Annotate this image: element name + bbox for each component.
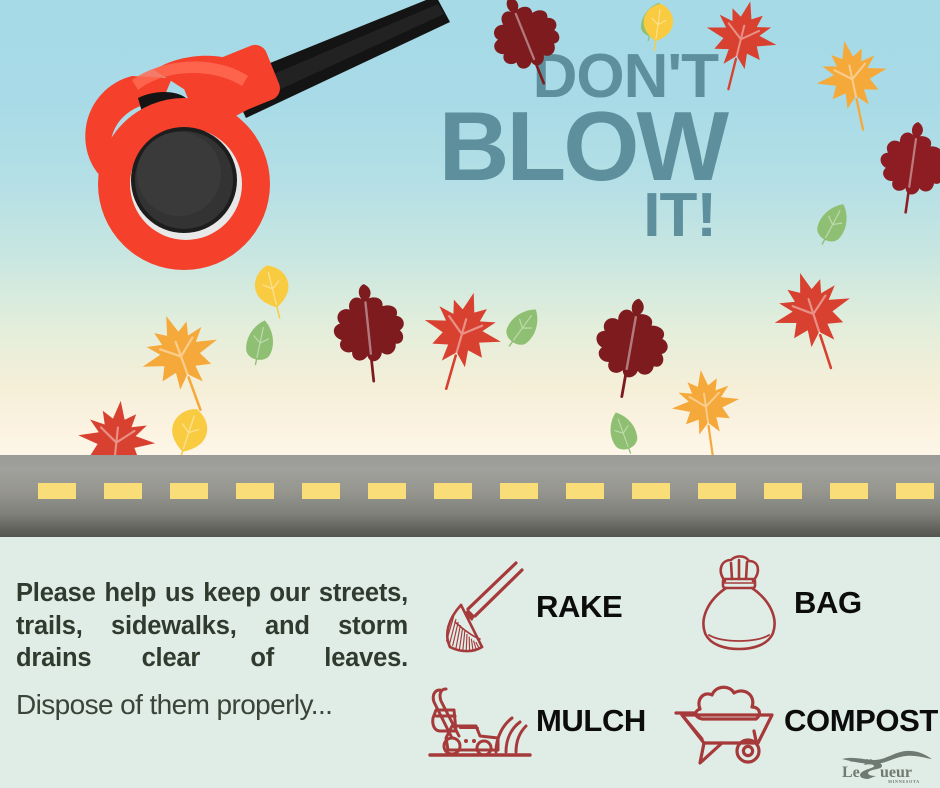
road-dash xyxy=(170,483,208,499)
sky-scene: DON'T BLOW IT! xyxy=(0,0,940,455)
road xyxy=(0,455,940,537)
road-dash xyxy=(434,483,472,499)
rake-icon xyxy=(424,555,536,659)
wheelbarrow-icon xyxy=(672,669,784,773)
action-mulch: MULCH xyxy=(424,669,646,773)
logo-name: Le xyxy=(842,764,860,781)
leaf-blower-illustration xyxy=(36,0,456,274)
bag-icon xyxy=(682,551,794,655)
action-label-bag: BAG xyxy=(794,585,862,621)
road-dash xyxy=(368,483,406,499)
city-logo: CITY OF Le ueur MINNESOTA xyxy=(838,748,934,784)
poster: DON'T BLOW IT! Please help us keep our s… xyxy=(0,0,940,788)
lawn-mower-icon xyxy=(424,669,536,773)
action-label-rake: RAKE xyxy=(536,589,622,625)
road-dash xyxy=(566,483,604,499)
road-dash xyxy=(38,483,76,499)
road-dash xyxy=(764,483,802,499)
road-dash xyxy=(830,483,868,499)
road-dash xyxy=(632,483,670,499)
oak-leaf-dark-mid xyxy=(288,255,451,429)
road-dash xyxy=(104,483,142,499)
action-bag: BAG xyxy=(682,551,862,655)
road-dash xyxy=(500,483,538,499)
logo-state: MINNESOTA xyxy=(888,779,920,784)
action-rake: RAKE xyxy=(424,555,622,659)
action-label-compost: COMPOST xyxy=(784,703,938,739)
road-center-line xyxy=(0,482,940,499)
actions-grid: RAKE xyxy=(424,549,940,774)
message-bold-text: Please help us keep our streets, trails,… xyxy=(16,577,408,675)
road-dash xyxy=(302,483,340,499)
message-light-text: Dispose of them properly... xyxy=(16,689,408,721)
road-dash xyxy=(698,483,736,499)
message-copy: Please help us keep our streets, trails,… xyxy=(16,577,408,721)
road-dash xyxy=(236,483,274,499)
action-label-mulch: MULCH xyxy=(536,703,646,739)
road-dash xyxy=(896,483,934,499)
message-panel: Please help us keep our streets, trails,… xyxy=(0,537,940,788)
